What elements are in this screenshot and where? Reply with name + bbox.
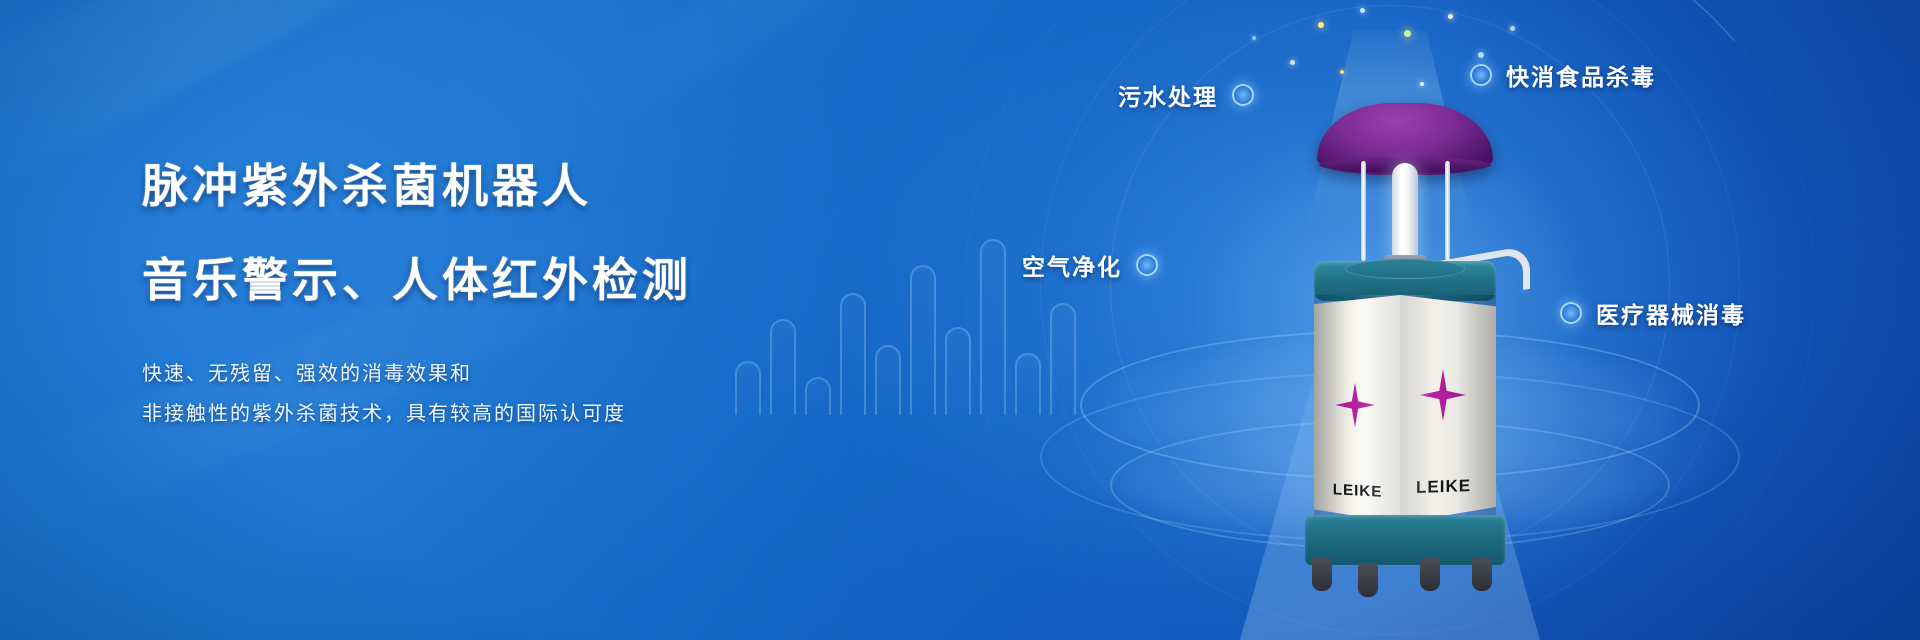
caster-wheel-icon — [1420, 557, 1440, 591]
callout-label: 快消食品杀毒 — [1506, 58, 1656, 92]
deck-plate — [1345, 259, 1465, 279]
node-dot-icon — [1470, 64, 1492, 86]
headline-primary: 脉冲紫外杀菌机器人 — [142, 150, 902, 216]
brand-wordmark-right: LEIKE — [1416, 476, 1471, 498]
node-dot-icon — [1136, 254, 1158, 276]
callout-label: 空气净化 — [1022, 248, 1122, 282]
sparkle-particle — [1420, 82, 1424, 86]
uv-lamp-tube — [1392, 163, 1418, 259]
uv-disinfection-robot: LEIKE LEIKE — [1290, 95, 1520, 575]
sparkle-particle — [1360, 8, 1365, 13]
callout-label: 医疗器械消毒 — [1596, 296, 1746, 330]
robot-body: LEIKE LEIKE — [1310, 295, 1500, 545]
sparkle-particle — [1318, 22, 1324, 28]
caster-wheel-icon — [1358, 563, 1378, 597]
headline-secondary: 音乐警示、人体红外检测 — [142, 244, 902, 310]
callout-medical-device-disinfection[interactable]: 医疗器械消毒 — [1560, 296, 1746, 330]
body-text-line-2: 非接触性的紫外杀菌技术，具有较高的国际认可度 — [142, 394, 902, 434]
sparkle-particle — [1404, 30, 1411, 37]
callout-air-purification[interactable]: 空气净化 — [1022, 248, 1158, 282]
waveform-bar — [945, 327, 971, 415]
headline-copy-block: 脉冲紫外杀菌机器人 音乐警示、人体红外检测 快速、无残留、强效的消毒效果和 非接… — [142, 150, 902, 434]
waveform-bar — [910, 265, 936, 415]
light-streak — [537, 0, 1022, 155]
callout-label: 污水处理 — [1118, 78, 1218, 112]
waveform-bar — [980, 239, 1006, 415]
hero-banner: 脉冲紫外杀菌机器人 音乐警示、人体红外检测 快速、无残留、强效的消毒效果和 非接… — [0, 0, 1920, 640]
body-text-line-1: 快速、无残留、强效的消毒效果和 — [142, 354, 902, 394]
sparkle-particle — [1290, 60, 1295, 65]
sparkle-particle — [1448, 14, 1453, 19]
waveform-bar — [1015, 353, 1041, 415]
sparkle-particle — [1340, 70, 1344, 74]
node-dot-icon — [1232, 84, 1254, 106]
support-rod — [1361, 161, 1366, 261]
support-rod — [1445, 161, 1450, 261]
node-dot-icon — [1560, 302, 1582, 324]
caster-wheel-icon — [1472, 557, 1492, 591]
callout-fmcg-food-disinfection[interactable]: 快消食品杀毒 — [1470, 58, 1656, 92]
sparkle-particle — [1252, 36, 1256, 40]
sparkle-particle — [1510, 26, 1515, 31]
callout-wastewater-treatment[interactable]: 污水处理 — [1118, 78, 1254, 112]
brand-wordmark-left: LEIKE — [1333, 481, 1383, 502]
waveform-bar — [1050, 303, 1076, 415]
caster-wheel-icon — [1312, 557, 1332, 591]
